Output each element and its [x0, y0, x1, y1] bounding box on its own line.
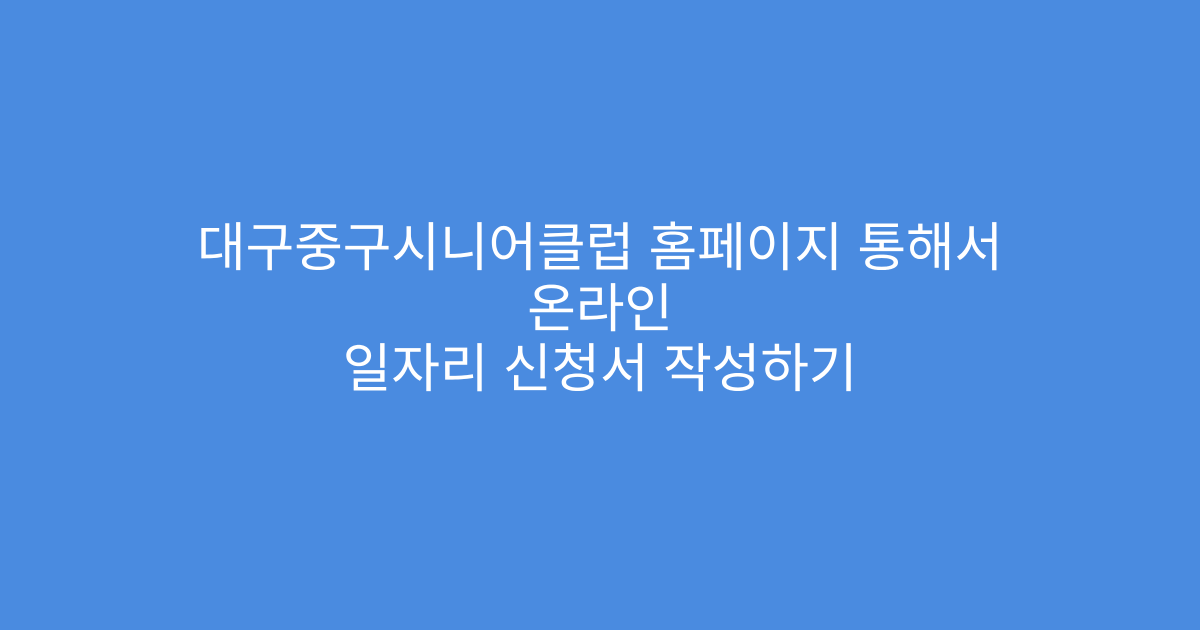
- banner-title-block: 대구중구시니어클럽 홈페이지 통해서 온라인 일자리 신청서 작성하기: [100, 219, 1100, 400]
- banner-title: 대구중구시니어클럽 홈페이지 통해서 온라인 일자리 신청서 작성하기: [140, 219, 1060, 400]
- og-banner-card: 대구중구시니어클럽 홈페이지 통해서 온라인 일자리 신청서 작성하기: [0, 0, 1200, 630]
